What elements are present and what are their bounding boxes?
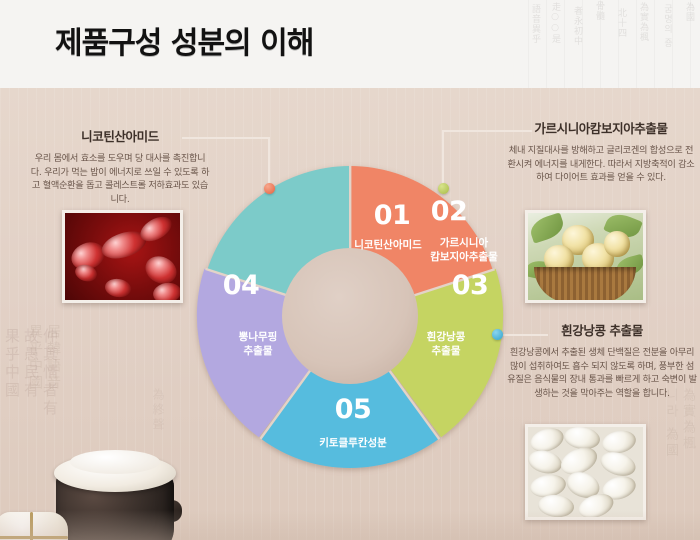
segment-04-label-line-2: 추출물 xyxy=(244,344,273,357)
segment-03-label-line-1: 흰강낭콩 xyxy=(427,330,466,343)
bundle-string-vertical xyxy=(30,512,33,540)
segment-03-label-line-2: 추출물 xyxy=(432,344,461,357)
red-blood-cell xyxy=(151,281,182,303)
callout-nicotinamide-title: 니코틴산아미드 xyxy=(30,126,210,145)
hanja-glyph-col-7: 굼명의 죵 xyxy=(662,4,672,48)
pot-cloth-top xyxy=(70,450,160,474)
segment-05-label: 키토클루칸성분 xyxy=(319,436,387,449)
herbal-medicine-photo xyxy=(0,440,180,540)
hanja-glyph-col-1: 語音異乎 xyxy=(530,4,540,44)
bean xyxy=(597,448,638,480)
garcinia-fruit-photo xyxy=(525,210,646,303)
header-hanja-background: 語音異乎 走○○是 者永初中 骨髓 北十四 為實為楓 굼명의 죵 為國 xyxy=(520,0,700,88)
callout-white-kidney-bean: 흰강낭콩 추출물 흰강낭콩에서 추출된 생체 단백질은 전분을 아무리 많이 섭… xyxy=(506,320,698,400)
callout-garcinia-body: 체내 지질대사를 방해하고 글리코겐의 합성으로 전환시켜 에너지를 내게한다.… xyxy=(506,144,696,185)
segment-01-label: 니코틴산아미드 xyxy=(354,238,422,251)
hanja-glyph-col-4: 骨髓 xyxy=(594,1,604,21)
callout-garcinia-title: 가르시니아캄보지아추출물 xyxy=(506,118,696,137)
bean xyxy=(526,447,564,477)
page-title: 제품구성 성분의 이해 xyxy=(55,18,313,62)
callout-white-kidney-bean-body: 흰강낭콩에서 추출된 생체 단백질은 전분을 아무리 많이 섭취하여도 흡수 되… xyxy=(506,346,698,400)
connector-dot-left xyxy=(264,183,275,194)
callout-nicotinamide: 니코틴산아미드 우리 몸에서 효소를 도우며 당 대사를 촉진합니다. 우리가 … xyxy=(30,126,210,206)
segment-01-number: 01 xyxy=(374,200,411,231)
hanja-glyph-col-6: 為實為楓 xyxy=(638,2,648,42)
hanja-glyph-col-8: 為國 xyxy=(684,2,694,22)
bundle-string-horizontal xyxy=(0,536,68,539)
segment-04-label-line-1: 뽕나무핑 xyxy=(239,330,278,343)
donut-hub xyxy=(282,248,418,384)
segment-02-label-line-2: 캄보지아추출물 xyxy=(430,250,498,263)
connector-dot-bottom-right xyxy=(492,329,503,340)
callout-nicotinamide-body: 우리 몸에서 효소를 도우며 당 대사를 촉진합니다. 우리가 먹는 밥이 에너… xyxy=(30,152,210,206)
white-kidney-beans-photo xyxy=(525,424,646,520)
red-blood-cell xyxy=(104,277,132,298)
segment-02-number: 02 xyxy=(431,196,468,227)
callout-white-kidney-bean-title: 흰강낭콩 추출물 xyxy=(506,320,698,339)
segment-02-label-line-1: 가르시니아 xyxy=(440,236,489,249)
garcinia-fruit xyxy=(604,231,630,257)
content-area: 仲其情者有 故愚民有 果乎中國 居韓語音 異乎中國 為實為楓 니라 為國 為終聲 xyxy=(0,88,700,540)
bean xyxy=(537,493,575,519)
connector-dot-top-right xyxy=(438,183,449,194)
hanja-glyph-col-2: 走○○是 xyxy=(550,2,560,44)
hanja-glyph-col-5: 北十四 xyxy=(616,8,626,38)
hanja-glyph-col-3: 者永初中 xyxy=(572,6,582,46)
header-bar: 語音異乎 走○○是 者永初中 骨髓 北十四 為實為楓 굼명의 죵 為國 제품구성… xyxy=(0,0,700,88)
blood-cells-photo xyxy=(62,210,183,303)
donut-svg: 01 니코틴산아미드 02 가르시니아 캄보지아추출물 03 흰강낭콩 추출물 … xyxy=(196,162,504,470)
segment-03-number: 03 xyxy=(452,270,489,301)
garcinia-background xyxy=(528,213,643,300)
segment-04-number: 04 xyxy=(223,270,260,301)
leaf xyxy=(527,212,566,243)
basket xyxy=(534,267,636,303)
segment-05-number: 05 xyxy=(335,394,372,425)
callout-garcinia: 가르시니아캄보지아추출물 체내 지질대사를 방해하고 글리코겐의 합성으로 전환… xyxy=(506,118,696,185)
infographic-canvas: 語音異乎 走○○是 者永初中 骨髓 北十四 為實為楓 굼명의 죵 為國 제품구성… xyxy=(0,0,700,540)
beans-background xyxy=(528,427,643,517)
blood-background xyxy=(65,213,180,300)
donut-chart: 01 니코틴산아미드 02 가르시니아 캄보지아추출물 03 흰강낭콩 추출물 … xyxy=(196,162,504,470)
